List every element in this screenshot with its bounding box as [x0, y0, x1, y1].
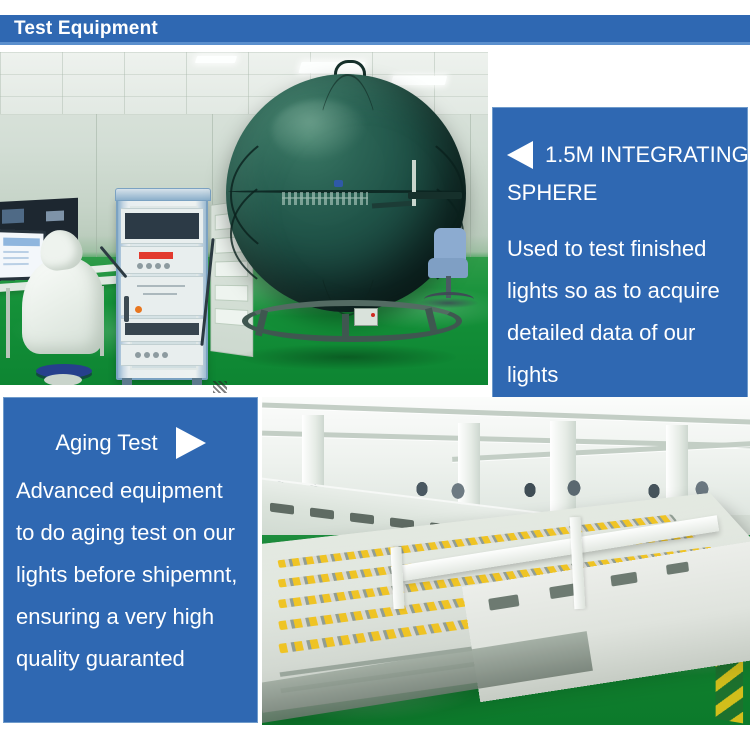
panel-heading-line1: 1.5M INTEGRATING [545, 136, 749, 174]
ceiling-light [195, 56, 237, 63]
aging-test-caption-panel: Aging Test Advanced equipment to do agin… [3, 397, 258, 723]
rack-panel [121, 344, 203, 366]
rack-panel [121, 276, 203, 316]
stand-leg [342, 314, 349, 340]
machine-vent [666, 562, 689, 575]
rack-top [115, 188, 211, 201]
desk-leg [6, 288, 10, 358]
panel-heading: Aging Test [16, 424, 245, 462]
wall-seam [96, 114, 97, 274]
panel-heading: 1.5M INTEGRATING [507, 136, 733, 174]
sphere-logo-dot [334, 180, 343, 187]
machine-vent [610, 572, 637, 587]
rack-label [137, 285, 185, 287]
section-integrating-sphere: 1.5M INTEGRATING SPHERE Used to test fin… [0, 52, 750, 385]
panel-body-text: Used to test finished lights so as to ac… [507, 228, 733, 396]
rack-panel [121, 208, 203, 244]
sphere-label [282, 192, 368, 205]
rack-panel [121, 246, 203, 274]
rack-foot [122, 378, 132, 385]
office-chair-base-shadow [418, 298, 478, 308]
rack-knob [135, 352, 141, 358]
bench-slot [350, 512, 374, 524]
rack-knob [137, 263, 143, 269]
bottom-trim [0, 725, 750, 734]
integrating-sphere-photo [0, 52, 488, 385]
sphere-shadow [236, 344, 458, 370]
triangle-right-icon [176, 427, 206, 459]
rack-indicator [135, 306, 142, 313]
triangle-left-icon [507, 141, 533, 169]
machine-vent [488, 594, 519, 610]
bench-slot [310, 508, 334, 520]
image-watermark [213, 381, 227, 393]
rack-door-handle [124, 296, 129, 322]
panel-body-text: Advanced equipment to do aging test on o… [16, 470, 245, 680]
page-title: Test Equipment [14, 18, 158, 40]
rack-panel [121, 318, 203, 342]
stand-control-box [354, 308, 378, 326]
instrument-rack [116, 196, 208, 380]
rack-led [139, 252, 173, 259]
panel-heading-line2: SPHERE [507, 174, 733, 212]
panel-heading-line1: Aging Test [55, 424, 157, 462]
technician-body [22, 258, 104, 354]
aging-test-photo [262, 397, 750, 725]
rack-foot [192, 378, 202, 385]
rack-label [143, 293, 177, 295]
stool-base [44, 374, 82, 385]
integrating-sphere-caption-panel: 1.5M INTEGRATING SPHERE Used to test fin… [492, 107, 748, 435]
section-title-banner: Test Equipment [0, 15, 750, 45]
rack-display [125, 323, 199, 335]
office-chair-back [434, 228, 466, 262]
sphere-port-arm [408, 192, 462, 199]
sphere-measurement-rod [412, 160, 416, 206]
rack-display [125, 213, 199, 239]
office-chair-seat [428, 258, 468, 278]
bench-slot [270, 503, 294, 515]
